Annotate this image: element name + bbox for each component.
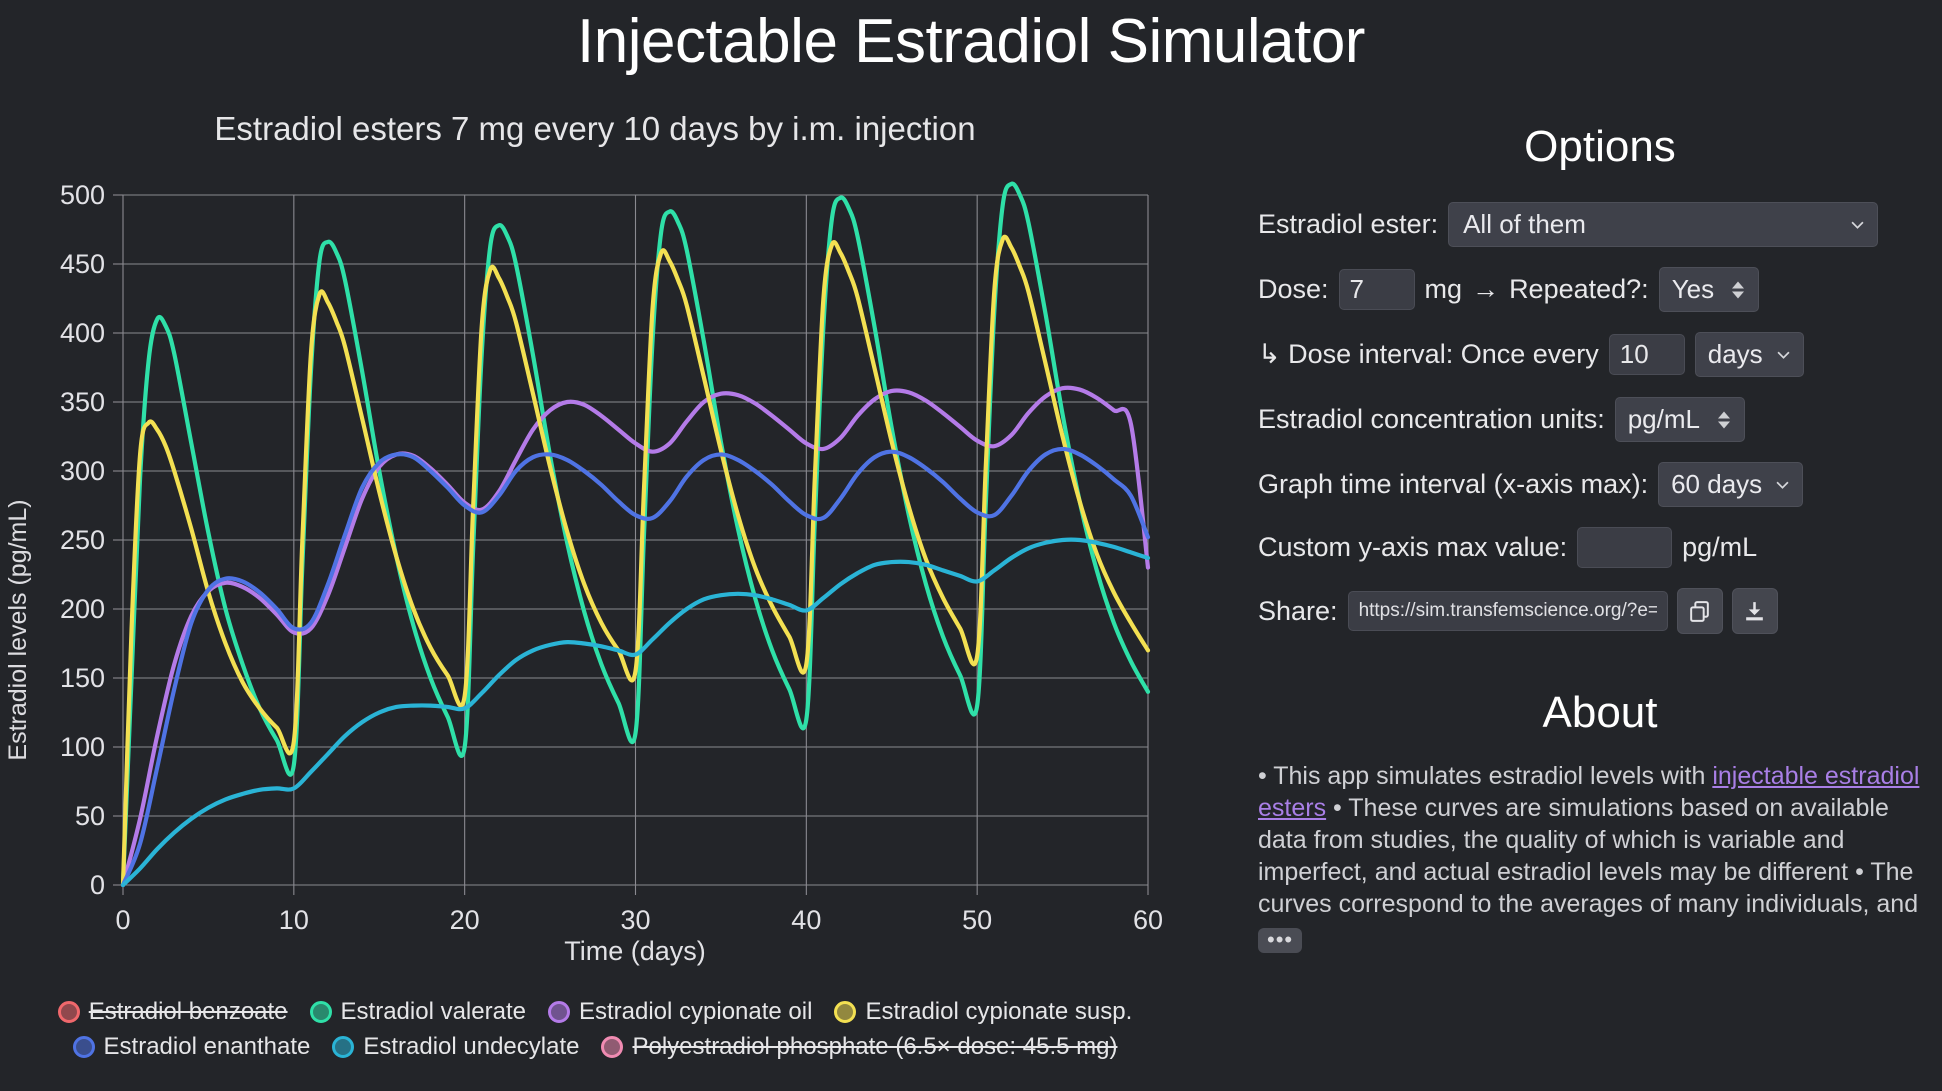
y-tick-label: 350	[60, 387, 105, 417]
timespan-label: Graph time interval (x-axis max):	[1258, 469, 1648, 500]
legend-row: Estradiol enanthateEstradiol undecylateP…	[73, 1033, 1118, 1061]
ymax-input[interactable]	[1577, 527, 1672, 568]
units-row: Estradiol concentration units: pg/mL	[1258, 397, 1942, 442]
timespan-select-value: 60 days	[1671, 469, 1762, 500]
y-tick-label: 150	[60, 663, 105, 693]
legend-color-dot	[601, 1036, 623, 1058]
dose-row: Dose: mg → Repeated?: Yes	[1258, 267, 1942, 312]
chart-column: Estradiol esters 7 mg every 10 days by i…	[0, 110, 1190, 1090]
stepper-arrows-icon	[1732, 281, 1744, 298]
legend-item[interactable]: Polyestradiol phosphate (6.5× dose: 45.5…	[601, 1033, 1117, 1061]
app-root: Injectable Estradiol Simulator Estradiol…	[0, 0, 1942, 1091]
legend-item[interactable]: Estradiol enanthate	[73, 1033, 311, 1061]
x-tick-label: 20	[450, 905, 480, 935]
ymax-label: Custom y-axis max value:	[1258, 532, 1567, 563]
ester-select[interactable]: All of them	[1448, 202, 1878, 247]
interval-unit-select[interactable]: days	[1695, 332, 1804, 377]
chevron-down-icon	[1777, 348, 1790, 361]
legend-item-label: Estradiol cypionate susp.	[865, 998, 1132, 1026]
x-tick-label: 10	[279, 905, 309, 935]
chart-svg: 050100150200250300350400450500 010203040…	[0, 150, 1190, 1000]
interval-unit-value: days	[1708, 339, 1763, 370]
legend-item[interactable]: Estradiol valerate	[310, 998, 526, 1026]
about-text: • This app simulates estradiol levels wi…	[1258, 760, 1942, 953]
chevron-down-icon	[1851, 218, 1864, 231]
legend-item[interactable]: Estradiol undecylate	[332, 1033, 579, 1061]
repeated-label: Repeated?:	[1509, 274, 1649, 305]
legend-color-dot	[332, 1036, 354, 1058]
copy-button[interactable]	[1677, 588, 1723, 634]
dose-arrow-icon: →	[1472, 274, 1499, 305]
ester-row: Estradiol ester: All of them	[1258, 202, 1942, 247]
legend-item[interactable]: Estradiol cypionate susp.	[834, 998, 1132, 1026]
chart-title: Estradiol esters 7 mg every 10 days by i…	[0, 110, 1190, 148]
y-tick-label: 50	[75, 801, 105, 831]
x-tick-label: 30	[620, 905, 650, 935]
y-tick-label: 0	[90, 870, 105, 900]
download-button[interactable]	[1732, 588, 1778, 634]
ester-label: Estradiol ester:	[1258, 209, 1438, 240]
y-tick-label: 400	[60, 318, 105, 348]
about-heading: About	[1258, 688, 1942, 738]
ester-select-value: All of them	[1463, 209, 1586, 240]
timespan-row: Graph time interval (x-axis max): 60 day…	[1258, 462, 1942, 507]
legend-item-label: Estradiol valerate	[341, 998, 526, 1026]
legend-item-label: Estradiol benzoate	[89, 998, 288, 1026]
about-text-part2: • These curves are simulations based on …	[1258, 794, 1918, 918]
y-tick-label: 450	[60, 249, 105, 279]
chart-plot: 050100150200250300350400450500 010203040…	[0, 150, 1190, 1000]
page-title: Injectable Estradiol Simulator	[0, 6, 1942, 77]
units-select-value: pg/mL	[1628, 404, 1700, 435]
dose-label: Dose:	[1258, 274, 1329, 305]
legend-color-dot	[73, 1036, 95, 1058]
download-icon	[1742, 599, 1767, 624]
ymax-row: Custom y-axis max value: pg/mL	[1258, 527, 1942, 568]
dose-input[interactable]	[1339, 269, 1415, 310]
legend-color-dot	[310, 1001, 332, 1023]
units-label: Estradiol concentration units:	[1258, 404, 1605, 435]
x-axis-ticks: 0102030405060	[115, 905, 1163, 935]
x-tick-label: 50	[962, 905, 992, 935]
interval-label: ↳ Dose interval: Once every	[1258, 339, 1599, 370]
y-tick-label: 100	[60, 732, 105, 762]
about-text-part1: • This app simulates estradiol levels wi…	[1258, 762, 1712, 790]
legend-item-label: Estradiol cypionate oil	[579, 998, 812, 1026]
legend-color-dot	[548, 1001, 570, 1023]
chevron-down-icon	[1776, 478, 1789, 491]
legend-item-label: Estradiol undecylate	[363, 1033, 579, 1061]
units-select[interactable]: pg/mL	[1615, 397, 1745, 442]
repeated-select[interactable]: Yes	[1659, 267, 1759, 312]
y-tick-label: 250	[60, 525, 105, 555]
legend-item[interactable]: Estradiol benzoate	[58, 998, 288, 1026]
y-axis-label: Estradiol levels (pg/mL)	[4, 499, 32, 760]
legend-color-dot	[834, 1001, 856, 1023]
options-panel: Options Estradiol ester: All of them Dos…	[1258, 122, 1942, 953]
x-tick-label: 0	[115, 905, 130, 935]
repeated-select-value: Yes	[1672, 274, 1714, 305]
ymax-unit: pg/mL	[1682, 532, 1757, 563]
share-label: Share:	[1258, 596, 1338, 627]
chart-legend: Estradiol benzoateEstradiol valerateEstr…	[0, 998, 1190, 1061]
timespan-select[interactable]: 60 days	[1658, 462, 1803, 507]
dose-unit: mg	[1425, 274, 1463, 305]
legend-item-label: Polyestradiol phosphate (6.5× dose: 45.5…	[632, 1033, 1117, 1061]
interval-row: ↳ Dose interval: Once every days	[1258, 332, 1942, 377]
legend-item-label: Estradiol enanthate	[104, 1033, 311, 1061]
y-tick-label: 500	[60, 180, 105, 210]
x-tick-label: 40	[791, 905, 821, 935]
x-axis-label: Time (days)	[564, 936, 706, 966]
y-tick-label: 200	[60, 594, 105, 624]
interval-input[interactable]	[1609, 334, 1685, 375]
show-more-button[interactable]: •••	[1258, 928, 1302, 953]
share-url-input[interactable]	[1348, 591, 1668, 631]
y-axis-ticks: 050100150200250300350400450500	[60, 180, 105, 900]
legend-color-dot	[58, 1001, 80, 1023]
copy-icon	[1687, 599, 1712, 624]
share-row: Share:	[1258, 588, 1942, 634]
stepper-arrows-icon	[1718, 411, 1730, 428]
x-tick-label: 60	[1133, 905, 1163, 935]
legend-item[interactable]: Estradiol cypionate oil	[548, 998, 812, 1026]
legend-row: Estradiol benzoateEstradiol valerateEstr…	[58, 998, 1133, 1026]
options-heading: Options	[1258, 122, 1942, 172]
y-tick-label: 300	[60, 456, 105, 486]
